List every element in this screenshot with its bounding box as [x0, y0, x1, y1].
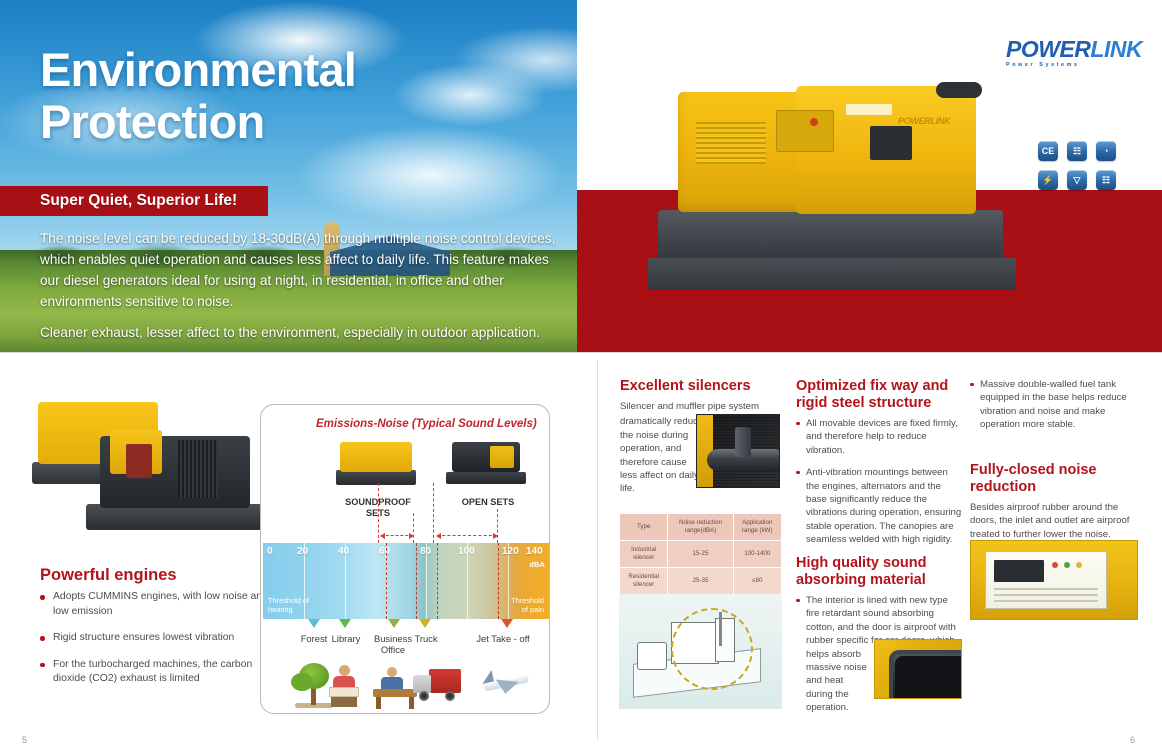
iso-certificate-badge: ☷ — [1067, 141, 1087, 161]
certification-badges: CE ☷ ◔ ⚡ ▽ ☷ — [1038, 141, 1134, 199]
radiator-graphic — [178, 440, 218, 498]
fully-closed-heading-line2: reduction — [970, 479, 1138, 496]
list-item: All movable devices are fixed firmly, an… — [796, 417, 962, 457]
control-panel-badge: ☷ — [1096, 170, 1116, 190]
marker-jet-takeoff — [501, 619, 513, 628]
noise-reduction-header-line2: range(dBA) — [670, 527, 730, 535]
chart-title: Emissions-Noise (Typical Sound Levels) — [316, 418, 541, 430]
silencer-spec-table: Type Noise reduction range(dBA) Applicat… — [619, 513, 782, 595]
axis-unit-label: dBA — [529, 560, 545, 569]
soundproof-connector-right — [413, 513, 414, 543]
list-item: For the turbocharged machines, the carbo… — [40, 658, 268, 687]
cell-type: Industrial silencer — [620, 541, 668, 568]
open-sets-label: OPEN SETS — [443, 497, 533, 508]
column-header-noise-reduction: Noise reduction range(dBA) — [668, 514, 733, 541]
noise-reduction-header-line1: Noise reduction — [670, 519, 730, 527]
airplane-icon — [479, 661, 533, 711]
sound-absorbing-section: High quality sound absorbing material Th… — [796, 555, 962, 715]
absorbing-heading-line1: High quality sound — [796, 555, 962, 572]
powerlink-logo: POWERLINK Power Systems — [1006, 38, 1130, 68]
absorbing-heading: High quality sound absorbing material — [796, 555, 962, 589]
engine-block-graphic — [126, 444, 152, 478]
generator-watermark: POWERLINK — [898, 116, 950, 126]
table-row: Residential silencer 25-35 ≤80 — [620, 568, 782, 595]
industrial-silencer-line2: silencer — [622, 554, 665, 562]
fix-way-heading: Optimized fix way and rigid steel struct… — [796, 378, 962, 412]
soundproof-range-end-line — [416, 543, 417, 619]
hero-description: The noise level can be reduced by 18-30d… — [40, 228, 570, 343]
reader-head — [339, 665, 350, 676]
cell-reduction: 25-35 — [668, 568, 733, 595]
hero-paragraph-1: The noise level can be reduced by 18-30d… — [40, 228, 570, 312]
axis-tick-label: 0 — [267, 546, 273, 557]
fully-closed-text: Besides airproof rubber around the doors… — [970, 501, 1138, 541]
logo-text-power: POWER — [1006, 36, 1090, 62]
diagram-highlight-circle — [671, 608, 753, 690]
fully-closed-heading: Fully-closed noise reduction — [970, 462, 1138, 496]
fuel-tank-section: Massive double-walled fuel tank equipped… — [970, 378, 1138, 441]
generator-control-panel — [776, 110, 834, 152]
hero-paragraph-2: Cleaner exhaust, lesser affect to the en… — [40, 322, 570, 343]
soundproof-canopy — [340, 442, 412, 472]
threshold-hearing-line1: Threshold of — [268, 596, 309, 605]
list-item: Adopts CUMMINS engines, with low noise a… — [40, 590, 268, 619]
tagline-text: Super Quiet, Superior Life! — [40, 192, 237, 210]
truck-wheel-rear — [445, 691, 455, 701]
threshold-pain-line2: of pain — [511, 605, 544, 614]
panel-divider-1 — [994, 588, 1098, 590]
soundproof-base — [336, 470, 416, 485]
application-header-line2: range (kW) — [736, 527, 779, 535]
tree-trunk — [311, 687, 316, 705]
emergency-stop-icon — [810, 118, 818, 126]
cell-application: ≤80 — [733, 568, 781, 595]
logo-text-link: LINK — [1090, 36, 1142, 62]
axis-tick-label: 100 — [458, 546, 475, 557]
engines-photo — [28, 392, 263, 542]
industrial-silencer-line1: Industrial — [622, 546, 665, 554]
open-set-thumbnail — [446, 440, 528, 490]
panel-divider-2 — [994, 594, 1098, 596]
page-number-left: 5 — [22, 735, 27, 745]
badge-row-bottom: ⚡ ▽ ☷ — [1038, 170, 1134, 190]
open-book — [329, 687, 359, 697]
powerful-engines-list: Adopts CUMMINS engines, with low noise a… — [40, 590, 268, 699]
reader-chair — [331, 697, 357, 707]
shield-badge: ▽ — [1067, 170, 1087, 190]
gauge-badge: ◔ — [1096, 141, 1116, 161]
cell-reduction: 15-25 — [668, 541, 733, 568]
powerful-engines-heading: Powerful engines — [40, 566, 280, 585]
truck-trailer — [429, 669, 461, 693]
source-label-jet-takeoff: Jet Take - off — [465, 633, 541, 644]
source-icons — [263, 661, 549, 713]
tagline-banner: Super Quiet, Superior Life! — [0, 186, 268, 216]
residential-silencer-line2: silencer — [622, 581, 665, 589]
panel-faceplate — [985, 551, 1107, 609]
source-markers — [263, 619, 549, 633]
page-number-right: 6 — [1130, 735, 1135, 745]
badge-row-top: CE ☷ ◔ — [1038, 141, 1134, 161]
axis-tick-label: 120 — [502, 546, 519, 557]
page-title: Environmental Protection — [40, 44, 560, 148]
soundproof-set-thumbnail — [336, 440, 418, 490]
control-panel-photo — [970, 540, 1138, 620]
page-title-line2: Protection — [40, 96, 560, 148]
fully-closed-heading-line1: Fully-closed noise — [970, 462, 1138, 479]
axis-tick-label: 140 — [526, 546, 543, 557]
application-header-line1: Application — [736, 519, 779, 527]
generator-nameplate — [846, 104, 892, 115]
axis-tick-label: 20 — [297, 546, 308, 557]
silencer-photo — [696, 414, 780, 488]
marker-truck — [419, 619, 431, 628]
axis-tick-label: 80 — [420, 546, 431, 557]
office-worker-head — [387, 667, 397, 677]
door-seal-photo — [874, 639, 962, 699]
list-item: Rigid structure ensures lowest vibration — [40, 631, 268, 646]
open-set-alt — [490, 446, 514, 468]
absorbing-heading-line2: absorbing material — [796, 572, 962, 589]
fix-way-heading-line1: Optimized fix way and — [796, 378, 962, 395]
silencers-heading: Excellent silencers — [620, 378, 780, 395]
generator-line-diagram — [619, 594, 782, 709]
page-title-line1: Environmental — [40, 44, 560, 96]
generator-access-door — [870, 126, 912, 160]
door-rubber-seal — [895, 656, 961, 699]
truck-icon — [409, 661, 463, 711]
desk-leg-left — [376, 697, 381, 709]
panel-led-green — [1064, 562, 1070, 568]
ce-mark-badge: CE — [1038, 141, 1058, 161]
open-range-start-line — [437, 543, 438, 619]
panel-led-amber — [1076, 562, 1082, 568]
open-range-end-line — [498, 543, 499, 619]
logo-tagline: Power Systems — [1006, 62, 1130, 68]
list-item: Massive double-walled fuel tank equipped… — [970, 378, 1138, 432]
soundproof-connector-left — [378, 483, 379, 543]
axis-tick-label: 40 — [338, 546, 349, 557]
panel-led-red — [1052, 562, 1058, 568]
column-divider — [597, 360, 598, 740]
silencers-text-wide: Silencer and muffler pipe system — [620, 400, 780, 413]
truck-wheel-front — [419, 691, 429, 701]
list-item: Anti-vibration mountings between the eng… — [796, 466, 962, 546]
residential-silencer-line1: Residential — [622, 573, 665, 581]
decibel-scale: 0 20 40 60 80 100 120 140 dBA Threshold … — [263, 543, 549, 619]
table-row: Industrial silencer 15-25 100-1400 — [620, 541, 782, 568]
column-header-application: Application range (kW) — [733, 514, 781, 541]
generator-photo: POWERLINK — [648, 82, 1038, 322]
source-labels: Forest Library Business Office Truck Jet… — [263, 633, 549, 659]
open-range-arrow — [437, 535, 497, 536]
absorbing-text-narrow: helps absorb massive noise and heat duri… — [796, 648, 870, 715]
optimized-fix-way-section: Optimized fix way and rigid steel struct… — [796, 378, 962, 556]
emissions-noise-chart: Emissions-Noise (Typical Sound Levels) S… — [260, 404, 550, 714]
logo-wordmark: POWERLINK — [1006, 38, 1130, 61]
threshold-of-pain-label: Threshold of pain — [511, 596, 544, 614]
marker-library — [339, 619, 351, 628]
open-set-skid — [446, 472, 526, 484]
panel-display-screen — [994, 560, 1044, 582]
cell-type: Residential silencer — [620, 568, 668, 595]
silencer-riser-pipe — [735, 427, 751, 457]
generator-exhaust-stack — [936, 82, 982, 98]
threshold-pain-line1: Threshold — [511, 596, 544, 605]
silencers-text-narrow: dramatically reduce the noise during ope… — [620, 415, 704, 495]
cell-application: 100-1400 — [733, 541, 781, 568]
soundproof-range-arrow — [381, 535, 413, 536]
fix-way-heading-line2: rigid steel structure — [796, 395, 962, 412]
open-connector-left — [433, 483, 434, 543]
source-label-truck: Truck — [393, 633, 459, 644]
section-divider — [0, 352, 1162, 353]
generator-skid — [648, 258, 1016, 290]
tree-crown-secondary — [291, 673, 313, 691]
marker-forest — [308, 619, 320, 628]
table-header-row: Type Noise reduction range(dBA) Applicat… — [620, 514, 782, 541]
marker-business-office — [388, 619, 400, 628]
excellent-silencers-section: Excellent silencers Silencer and muffler… — [620, 378, 780, 496]
diagram-alternator — [637, 642, 667, 670]
column-header-type: Type — [620, 514, 668, 541]
brochure-page: POWERLINK POWERLINK Power Systems CE ☷ ◔… — [0, 0, 1162, 755]
fully-closed-noise-section: Fully-closed noise reduction Besides air… — [970, 462, 1138, 541]
threshold-hearing-line2: hearing — [268, 605, 309, 614]
soundproof-range-start-line — [386, 543, 387, 619]
panel-divider-3 — [994, 600, 1098, 602]
hero-banner: POWERLINK POWERLINK Power Systems CE ☷ ◔… — [0, 0, 1162, 352]
plug-badge: ⚡ — [1038, 170, 1058, 190]
threshold-of-hearing-label: Threshold of hearing — [268, 596, 309, 614]
generator-louver — [696, 122, 766, 164]
